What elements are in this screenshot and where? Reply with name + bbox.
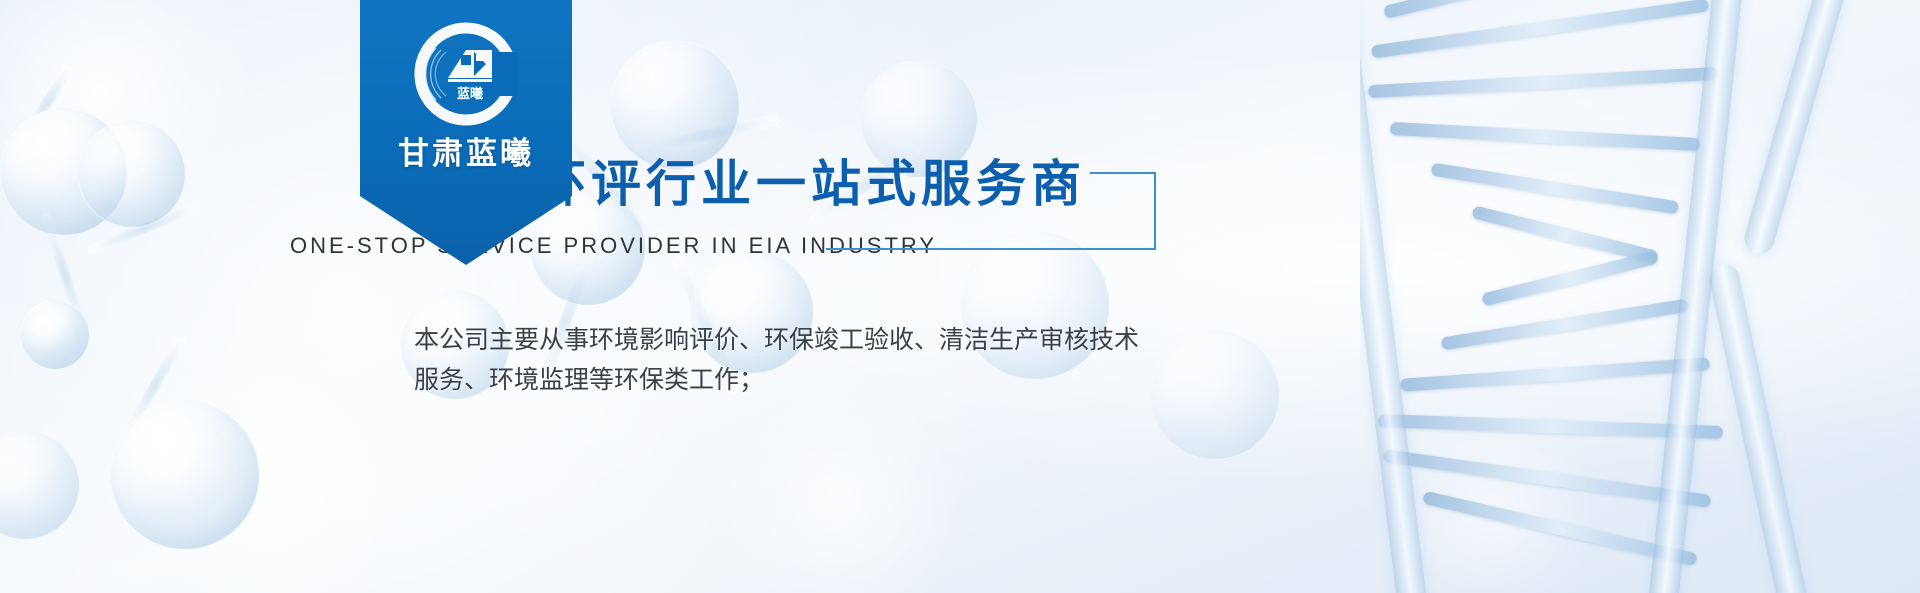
decor-right-dna [1360,0,1920,593]
glow-blob [720,380,960,593]
company-emblem-icon: 蓝曦 [414,22,518,126]
body-line-1: 本公司主要从事环境影响评价、环保竣工验收、清洁生产审核技术 [414,320,1139,360]
molecule-sphere [110,400,260,550]
molecule-sphere [0,108,128,236]
headline-title: 环评行业一站式服务商 [536,144,1086,216]
molecule-sphere [0,430,80,540]
glow-blob [120,330,420,593]
body-description: 本公司主要从事环境影响评价、环保竣工验收、清洁生产审核技术 服务、环境监理等环保… [414,320,1139,400]
molecule-bond [40,212,90,339]
molecule-bond [123,335,187,435]
molecule-sphere [20,300,90,370]
company-name: 甘肃蓝曦 [360,128,572,173]
molecule-bond [20,64,74,142]
emblem-logo-text: 蓝曦 [457,86,483,102]
brand-ribbon[interactable]: 蓝曦 甘肃蓝曦 [360,0,572,265]
accent-rule-horizontal [826,248,1156,250]
molecule-bond [87,201,202,255]
headline-subtitle-english: ONE-STOP SERVICE PROVIDER IN EIA INDUSTR… [290,233,937,259]
molecule-sphere [1150,330,1280,460]
glow-blob [0,0,260,250]
accent-bracket-vertical [1154,172,1156,250]
molecule-sphere [78,120,186,228]
accent-bracket-top [1090,172,1156,174]
body-line-2: 服务、环境监理等环保类工作； [414,360,1139,400]
hero-banner: 蓝曦 甘肃蓝曦 环评行业一站式服务商 ONE-STOP SERVICE PROV… [0,0,1920,593]
